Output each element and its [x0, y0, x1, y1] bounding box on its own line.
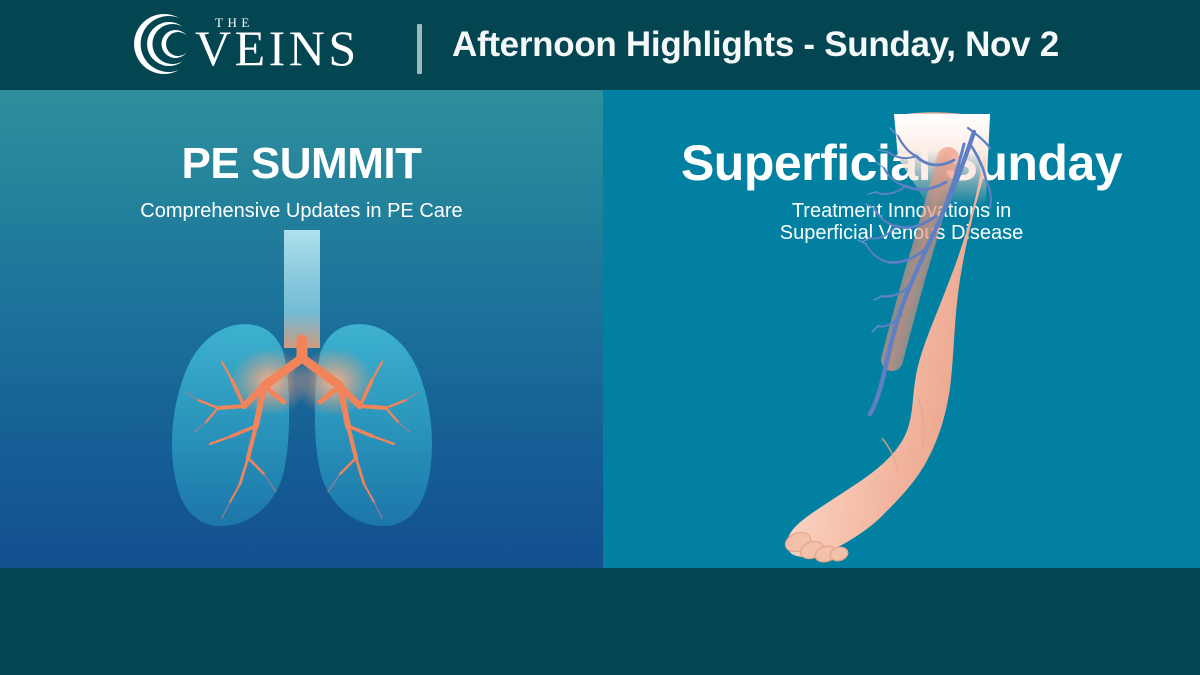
panel-subtitle-pe-summit: Comprehensive Updates in PE Care — [0, 200, 603, 222]
panel-superficial-sunday[interactable]: Superficial Sunday Treatment Innovations… — [603, 90, 1200, 568]
header-bar: THE VEINS Afternoon Highlights - Sunday,… — [0, 0, 1200, 90]
page-title: Afternoon Highlights - Sunday, Nov 2 — [452, 22, 1059, 68]
promo-graphic: THE VEINS Afternoon Highlights - Sunday,… — [0, 0, 1200, 675]
lungs-illustration — [152, 230, 452, 560]
panel-pe-summit[interactable]: PE SUMMIT Comprehensive Updates in PE Ca… — [0, 90, 603, 568]
footer-bar: REGISTER NOW - viva-foundation.org/regis… — [0, 568, 1200, 675]
header-divider — [417, 24, 422, 74]
panel-title-pe-summit: PE SUMMIT — [0, 142, 603, 186]
brand-logo[interactable]: THE VEINS — [133, 13, 403, 75]
veins-crescent-logo-icon — [133, 13, 199, 75]
logo-wordmark-text: VEINS — [195, 22, 360, 74]
leg-varicose-veins-illustration — [778, 98, 1038, 568]
panels-container: PE SUMMIT Comprehensive Updates in PE Ca… — [0, 90, 1200, 568]
